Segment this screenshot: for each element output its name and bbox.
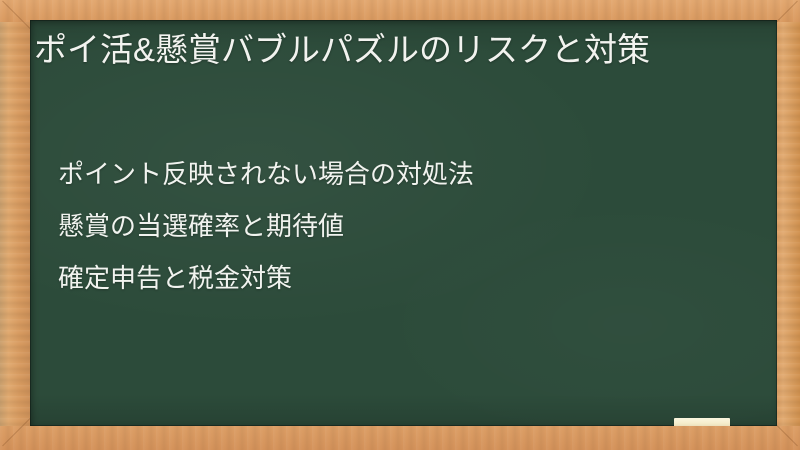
frame-rail-bottom <box>0 426 800 450</box>
list-item: 懸賞の当選確率と期待値 <box>58 200 748 252</box>
chalkboard-surface: ポイ活&懸賞バブルパズルのリスクと対策 ポイント反映されない場合の対処法 懸賞の… <box>30 20 777 426</box>
frame-rail-top <box>0 0 800 22</box>
list-item: ポイント反映されない場合の対処法 <box>58 148 748 200</box>
chalk-stick-icon <box>674 418 730 426</box>
slide-title: ポイ活&懸賞バブルパズルのリスクと対策 <box>34 27 750 72</box>
slide-item-list: ポイント反映されない場合の対処法 懸賞の当選確率と期待値 確定申告と税金対策 <box>58 148 748 304</box>
slide-canvas: ポイ活&懸賞バブルパズルのリスクと対策 ポイント反映されない場合の対処法 懸賞の… <box>0 0 800 450</box>
list-item: 確定申告と税金対策 <box>58 252 748 304</box>
frame-rail-right <box>774 0 800 450</box>
frame-rail-left <box>0 0 34 450</box>
